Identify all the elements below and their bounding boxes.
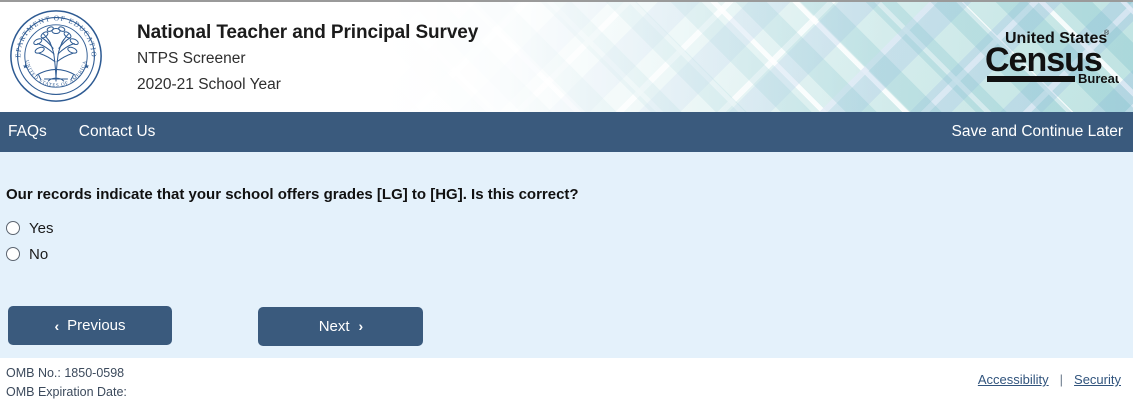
school-year: 2020-21 School Year <box>137 72 478 98</box>
radio-label-no: No <box>29 246 48 263</box>
accessibility-link[interactable]: Accessibility <box>978 372 1049 387</box>
header-title-block: National Teacher and Principal Survey NT… <box>137 20 478 98</box>
chevron-left-icon: ‹ <box>54 318 59 334</box>
radio-button-yes[interactable] <box>6 221 20 235</box>
page-header: DEPARTMENT OF EDUCATION UNITED STATES OF… <box>0 2 1133 112</box>
radio-option-no[interactable]: No <box>6 242 53 266</box>
question-panel: Our records indicate that your school of… <box>0 152 1133 358</box>
question-text: Our records indicate that your school of… <box>6 186 579 203</box>
next-button-label: Next <box>319 318 350 335</box>
footer-links: Accessibility | Security <box>978 372 1121 387</box>
previous-button-label: Previous <box>67 317 125 334</box>
page-title: National Teacher and Principal Survey <box>137 20 478 46</box>
page-footer: OMB No.: 1850-0598 OMB Expiration Date: … <box>0 358 1133 411</box>
survey-page: DEPARTMENT OF EDUCATION UNITED STATES OF… <box>0 0 1133 411</box>
navbar-left-links: FAQs Contact Us <box>0 112 155 152</box>
save-and-continue-later-link[interactable]: Save and Continue Later <box>952 112 1123 152</box>
radio-button-no[interactable] <box>6 247 20 261</box>
previous-button[interactable]: ‹ Previous <box>8 306 172 345</box>
omb-number: OMB No.: 1850-0598 <box>6 364 127 383</box>
utility-navbar: FAQs Contact Us Save and Continue Later <box>0 112 1133 152</box>
radio-option-yes[interactable]: Yes <box>6 216 53 240</box>
radio-label-yes: Yes <box>29 220 53 237</box>
omb-expiration-date: OMB Expiration Date: <box>6 383 127 402</box>
chevron-right-icon: › <box>359 318 364 334</box>
security-link[interactable]: Security <box>1074 372 1121 387</box>
census-bureau-logo: United States ® Census Bureau <box>979 26 1119 88</box>
nav-link-faqs[interactable]: FAQs <box>8 112 47 152</box>
footer-link-separator: | <box>1060 372 1063 387</box>
omb-info: OMB No.: 1850-0598 OMB Expiration Date: <box>6 364 127 402</box>
department-of-education-seal-icon: DEPARTMENT OF EDUCATION UNITED STATES OF… <box>8 8 104 104</box>
svg-text:★: ★ <box>22 62 28 70</box>
survey-subtitle: NTPS Screener <box>137 46 478 72</box>
svg-text:Bureau: Bureau <box>1078 71 1119 86</box>
svg-text:®: ® <box>1104 29 1110 37</box>
answer-options-group: Yes No <box>6 216 53 268</box>
next-button[interactable]: Next › <box>258 307 423 346</box>
svg-text:★: ★ <box>84 62 90 70</box>
navigation-buttons: ‹ Previous Next › <box>8 306 423 346</box>
nav-link-contact-us[interactable]: Contact Us <box>79 112 156 152</box>
